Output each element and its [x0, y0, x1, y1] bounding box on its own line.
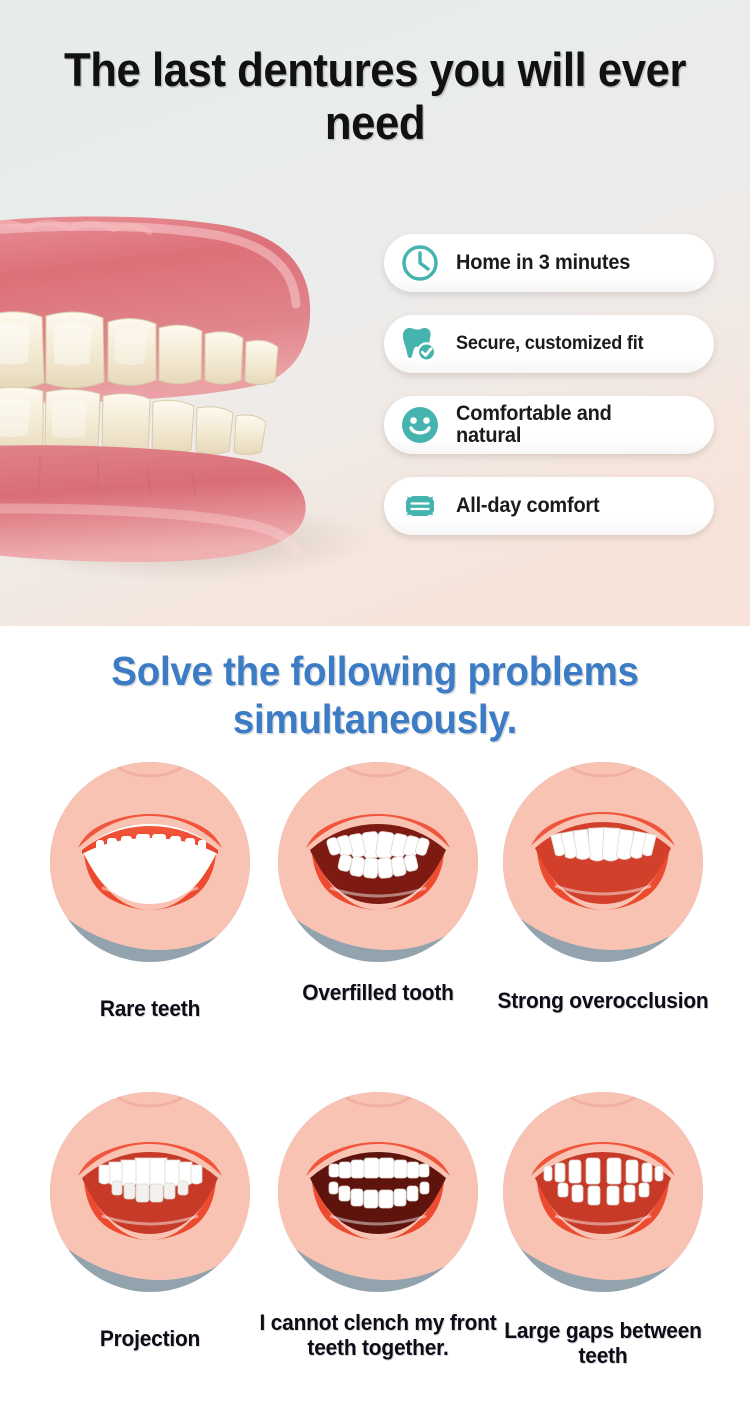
problem-label: Projection — [31, 1326, 269, 1351]
mouth-sparse-teeth-illustration — [40, 754, 260, 974]
problem-label: Large gaps between teeth — [484, 1318, 722, 1369]
section-title: Solve the following problems simultaneou… — [23, 648, 728, 743]
mouth-open-bite-illustration — [268, 1084, 488, 1304]
problem-label: Overfilled tooth — [259, 980, 497, 1005]
smiley-face-icon — [398, 403, 442, 447]
problems-section: Solve the following problems simultaneou… — [0, 626, 750, 1420]
problem-item-large-gaps[interactable]: Large gaps between teeth — [478, 1084, 728, 1369]
hero-section: The last dentures you will ever need — [0, 0, 750, 626]
problem-item-open-bite[interactable]: I cannot clench my front teeth together. — [253, 1084, 503, 1361]
feature-label: Home in 3 minutes — [456, 252, 630, 274]
tooth-check-icon — [398, 322, 442, 366]
problem-item-rare-teeth[interactable]: Rare teeth — [25, 754, 275, 1021]
problem-grid: Rare teeth — [0, 754, 750, 1414]
mouth-protrusion-illustration — [40, 1084, 260, 1304]
problem-item-overfilled-tooth[interactable]: Overfilled tooth — [253, 754, 503, 1005]
page-title: The last dentures you will ever need — [26, 44, 724, 149]
problem-item-strong-overocclusion[interactable]: Strong overocclusion — [478, 754, 728, 1013]
feature-card-list: Home in 3 minutes Secure, customized fit — [384, 234, 750, 558]
problem-label: Rare teeth — [31, 996, 269, 1021]
feature-label: Comfortable and natural — [456, 403, 612, 448]
feature-card-secure-fit[interactable]: Secure, customized fit — [384, 315, 714, 373]
feature-label: All-day comfort — [456, 495, 599, 517]
pillow-icon — [398, 484, 442, 528]
problem-label: Strong overocclusion — [484, 988, 722, 1013]
mouth-overbite-illustration — [493, 754, 713, 974]
problem-row-1: Rare teeth — [0, 754, 750, 1084]
denture-image — [0, 210, 378, 610]
problem-item-projection[interactable]: Projection — [25, 1084, 275, 1351]
problem-row-2: Projection — [0, 1084, 750, 1414]
clock-icon — [398, 241, 442, 285]
mouth-diastema-illustration — [493, 1084, 713, 1304]
problem-label: I cannot clench my front teeth together. — [259, 1310, 497, 1361]
mouth-crowded-teeth-illustration — [268, 754, 488, 974]
feature-card-home-in-3-minutes[interactable]: Home in 3 minutes — [384, 234, 714, 292]
feature-label: Secure, customized fit — [456, 334, 643, 354]
feature-card-comfortable-natural[interactable]: Comfortable and natural — [384, 396, 714, 454]
feature-card-all-day-comfort[interactable]: All-day comfort — [384, 477, 714, 535]
